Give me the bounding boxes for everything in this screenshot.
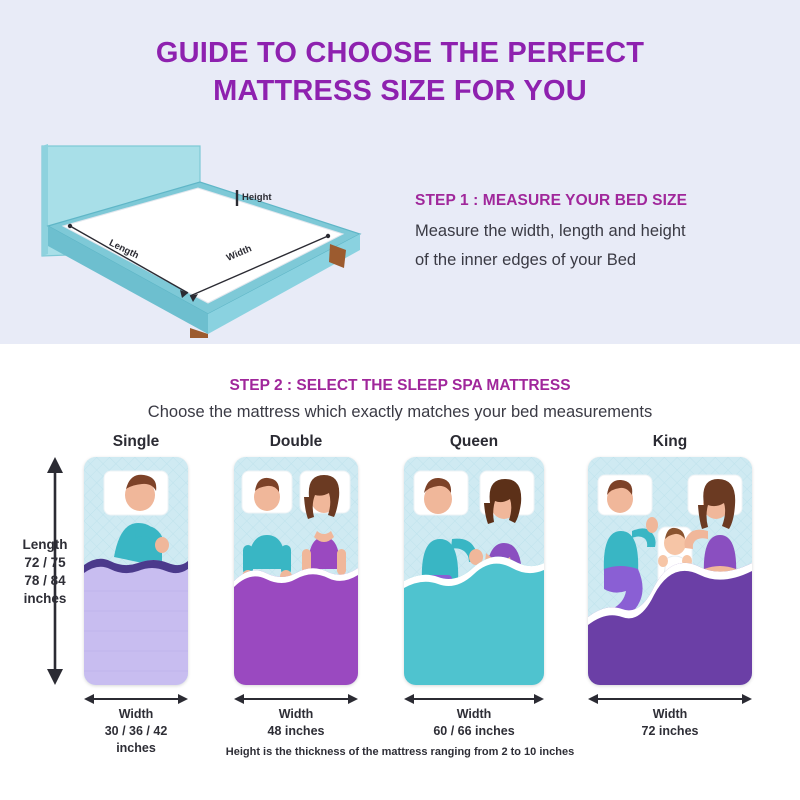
width-values-single: 30 / 36 / 42 <box>64 723 208 740</box>
step1-text-block: STEP 1 : MEASURE YOUR BED SIZE Measure t… <box>415 192 785 273</box>
width-arrow-icon-queen <box>404 693 544 705</box>
width-label-double: Width 48 inches <box>214 706 378 740</box>
mattress-card-king[interactable]: King <box>588 457 752 685</box>
length-unit: inches <box>4 590 86 608</box>
double-bed-svg <box>234 457 358 685</box>
width-label-queen: Width 60 / 66 inches <box>384 706 564 740</box>
mattress-title-double: Double <box>234 433 358 451</box>
page-title: GUIDE TO CHOOSE THE PERFECT MATTRESS SIZ… <box>0 34 800 111</box>
step2-subheading: Choose the mattress which exactly matche… <box>0 403 800 422</box>
mattress-illustration-king <box>588 457 752 685</box>
double-blanket-icon <box>234 568 358 685</box>
page-title-line1: GUIDE TO CHOOSE THE PERFECT <box>0 34 800 72</box>
step1-section: GUIDE TO CHOOSE THE PERFECT MATTRESS SIZ… <box>0 0 800 344</box>
width-title-queen: Width <box>384 706 564 723</box>
step1-line1: Measure the width, length and height <box>415 218 785 245</box>
mattress-illustration-double <box>234 457 358 685</box>
page-title-line2: MATTRESS SIZE FOR YOU <box>0 72 800 110</box>
mattress-title-queen: Queen <box>404 433 544 451</box>
width-arrow-icon-single <box>84 693 188 705</box>
width-values-queen: 60 / 66 inches <box>384 723 564 740</box>
single-blanket-icon <box>84 559 188 685</box>
bed-diagram-svg <box>30 138 380 338</box>
step2-section: STEP 2 : SELECT THE SLEEP SPA MATTRESS C… <box>0 344 800 800</box>
width-values-double: 48 inches <box>214 723 378 740</box>
single-bed-svg <box>84 457 188 685</box>
width-arrow-icon-king <box>588 693 752 705</box>
mattress-illustration-single <box>84 457 188 685</box>
bed-width-arrow-end-icon <box>326 234 330 238</box>
queen-bed-svg <box>404 457 544 685</box>
king-bed-svg <box>588 457 752 685</box>
length-values-line1: 72 / 75 <box>4 554 86 572</box>
mattress-card-queen[interactable]: Queen <box>404 457 544 685</box>
step1-line2: of the inner edges of your Bed <box>415 247 785 274</box>
bed-length-arrow-start-icon <box>68 224 72 228</box>
length-values-line2: 78 / 84 <box>4 572 86 590</box>
width-arrow-icon-double <box>234 693 358 705</box>
width-title-king: Width <box>568 706 772 723</box>
bed-diagram: Length Width Height <box>30 138 380 338</box>
footnote-text: Height is the thickness of the mattress … <box>0 746 800 758</box>
mattress-illustration-queen <box>404 457 544 685</box>
length-label: Length <box>4 536 86 554</box>
bed-headboard-edge-icon <box>42 144 48 256</box>
mattress-card-double[interactable]: Double <box>234 457 358 685</box>
step1-heading: STEP 1 : MEASURE YOUR BED SIZE <box>415 192 785 210</box>
width-label-king: Width 72 inches <box>568 706 772 740</box>
single-man-hand-icon <box>155 537 169 553</box>
mattress-title-king: King <box>588 433 752 451</box>
width-values-king: 72 inches <box>568 723 772 740</box>
step2-heading: STEP 2 : SELECT THE SLEEP SPA MATTRESS <box>0 377 800 395</box>
mattress-title-single: Single <box>84 433 188 451</box>
width-title-double: Width <box>214 706 378 723</box>
mattress-card-single[interactable]: Single <box>84 457 188 685</box>
length-measure-label: Length 72 / 75 78 / 84 inches <box>4 536 86 608</box>
bed-height-label: Height <box>242 192 272 203</box>
width-title-single: Width <box>64 706 208 723</box>
